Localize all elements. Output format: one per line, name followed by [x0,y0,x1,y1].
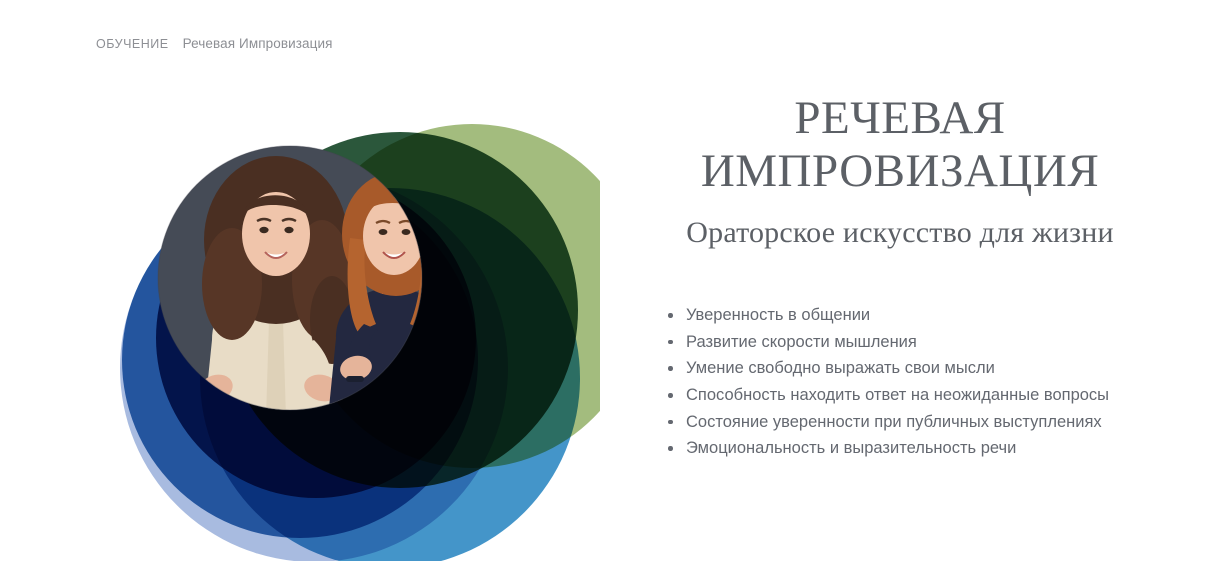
photo-right-eye-right [402,229,411,235]
list-item: Состояние уверенности при публичных выст… [668,409,1180,436]
breadcrumb: ОБУЧЕНИЕ Речевая Импровизация [96,36,333,51]
list-item: Развитие скорости мышления [668,329,1180,356]
list-item: Эмоциональность и выразительность речи [668,435,1180,462]
breadcrumb-item-obuchenie[interactable]: ОБУЧЕНИЕ [96,37,169,51]
hero-circles-graphic [100,88,600,561]
hero-content: РЕЧЕВАЯ ИМПРОВИЗАЦИЯ Ораторское искусств… [620,92,1180,462]
list-item: Умение свободно выражать свои мысли [668,355,1180,382]
hero-page: ОБУЧЕНИЕ Речевая Импровизация [0,0,1220,561]
page-title: РЕЧЕВАЯ ИМПРОВИЗАЦИЯ [620,92,1180,198]
list-item: Уверенность в общении [668,302,1180,329]
breadcrumb-current: Речевая Импровизация [183,36,333,51]
photo-left-eye-left [259,227,268,233]
list-item: Способность находить ответ на неожиданны… [668,382,1180,409]
photo-right-watch [346,376,364,382]
photo-right-eye-left [379,229,388,235]
overlapping-circles-illustration [100,88,600,561]
benefits-list: Уверенность в общении Развитие скорости … [620,302,1180,462]
photo-left-eye-right [284,227,293,233]
page-subtitle: Ораторское искусство для жизни [620,216,1180,250]
